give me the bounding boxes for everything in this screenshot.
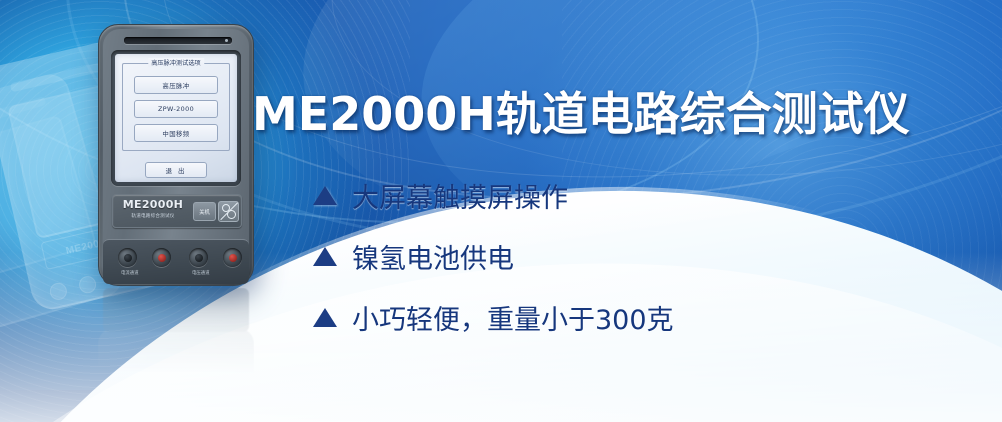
screen-option-group: 高压脉冲测试选项 高压脉冲 ZPW-2000 中国移频 — [122, 63, 230, 151]
feature-text: 镍氢电池供电 — [352, 237, 514, 276]
list-item: 镍氢电池供电 — [313, 237, 674, 276]
triangle-bullet-icon — [313, 186, 337, 205]
device-jack-panel: 电流通道 电压通道 — [103, 239, 249, 284]
current-jack-black[interactable] — [118, 248, 137, 267]
product-device-image: 高压脉冲测试选项 高压脉冲 ZPW-2000 中国移频 退 出 ME2000H … — [98, 24, 254, 286]
triangle-bullet-icon — [313, 308, 337, 327]
screen-button-pulse[interactable]: 高压脉冲 — [134, 76, 218, 94]
voltage-jack-black[interactable] — [189, 248, 208, 267]
current-channel-label: 电流通道 — [121, 270, 139, 276]
device-power-button[interactable]: 关机 — [193, 202, 216, 221]
list-item: 小巧轻便，重量小于300克 — [313, 298, 674, 337]
brightness-contrast-icon[interactable] — [218, 201, 239, 222]
voltage-channel-label: 电压通道 — [192, 270, 210, 276]
list-item: 大屏幕触摸屏操作 — [313, 176, 674, 215]
screen-button-zpw2000[interactable]: ZPW-2000 — [134, 100, 218, 118]
feature-text: 大屏幕触摸屏操作 — [352, 176, 568, 215]
screen-group-title: 高压脉冲测试选项 — [148, 58, 204, 67]
device-screen-bezel: 高压脉冲测试选项 高压脉冲 ZPW-2000 中国移频 退 出 — [111, 50, 241, 186]
page-title: ME2000H轨道电路综合测试仪 — [252, 78, 910, 144]
feature-list: 大屏幕触摸屏操作 镍氢电池供电 小巧轻便，重量小于300克 — [313, 176, 674, 359]
device-brand-name: ME2000H — [119, 199, 187, 210]
voltage-jack-red[interactable] — [223, 248, 242, 267]
device-top-slot-icon — [124, 37, 232, 44]
device-brand-subtitle: 轨道电路综合测试仪 — [119, 213, 187, 219]
screen-button-china-freq[interactable]: 中国移频 — [134, 124, 218, 142]
device-reflection — [98, 288, 254, 378]
triangle-bullet-icon — [313, 247, 337, 266]
current-jack-red[interactable] — [152, 248, 171, 267]
device-screen: 高压脉冲测试选项 高压脉冲 ZPW-2000 中国移频 退 出 — [115, 54, 237, 182]
device-brand-panel: ME2000H 轨道电路综合测试仪 关机 — [112, 194, 242, 228]
product-banner: ME2000H 高压脉冲测试选项 高压脉冲 ZPW-2000 中国移频 退 出 — [0, 0, 1002, 422]
screen-button-exit[interactable]: 退 出 — [145, 162, 207, 178]
feature-text: 小巧轻便，重量小于300克 — [352, 298, 674, 337]
